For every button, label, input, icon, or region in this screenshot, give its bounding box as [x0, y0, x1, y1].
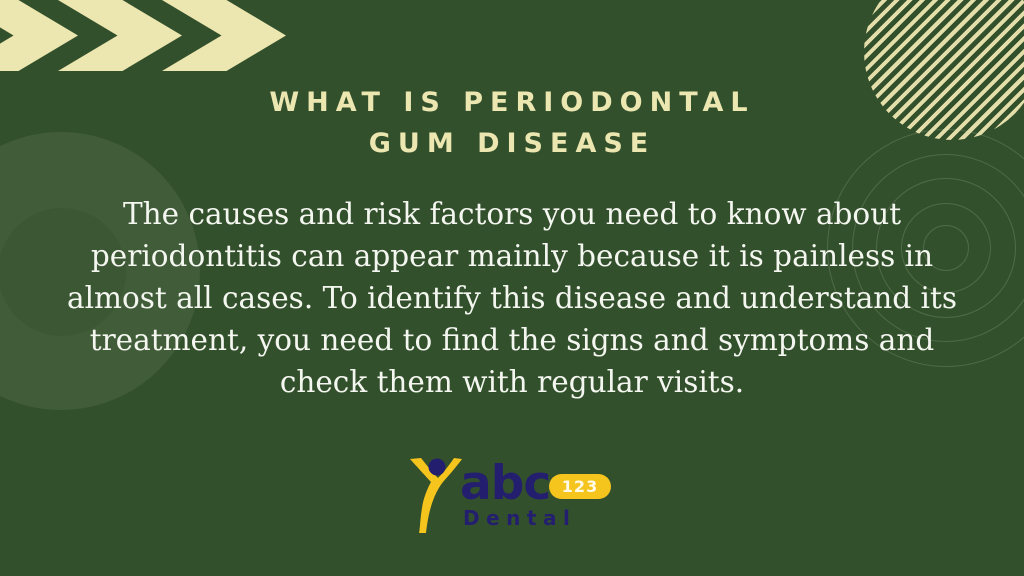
brand-logo: abc 123 Dental [404, 452, 616, 534]
body-paragraph: The causes and risk factors you need to … [62, 193, 962, 403]
page-title: What is Periodontal Gum Disease [0, 82, 1024, 164]
page-title-line-1: What is Periodontal [0, 82, 1024, 123]
logo-123-badge: 123 [549, 474, 611, 499]
logo-dental-text: Dental [463, 506, 576, 530]
logo-123-text: 123 [549, 477, 611, 496]
logo-wordmark: abc 123 Dental [460, 460, 620, 526]
logo-abc-text: abc [460, 460, 550, 507]
slide-content: What is Periodontal Gum Disease The caus… [0, 0, 1024, 576]
slide-canvas: What is Periodontal Gum Disease The caus… [0, 0, 1024, 576]
page-title-line-2: Gum Disease [0, 123, 1024, 164]
